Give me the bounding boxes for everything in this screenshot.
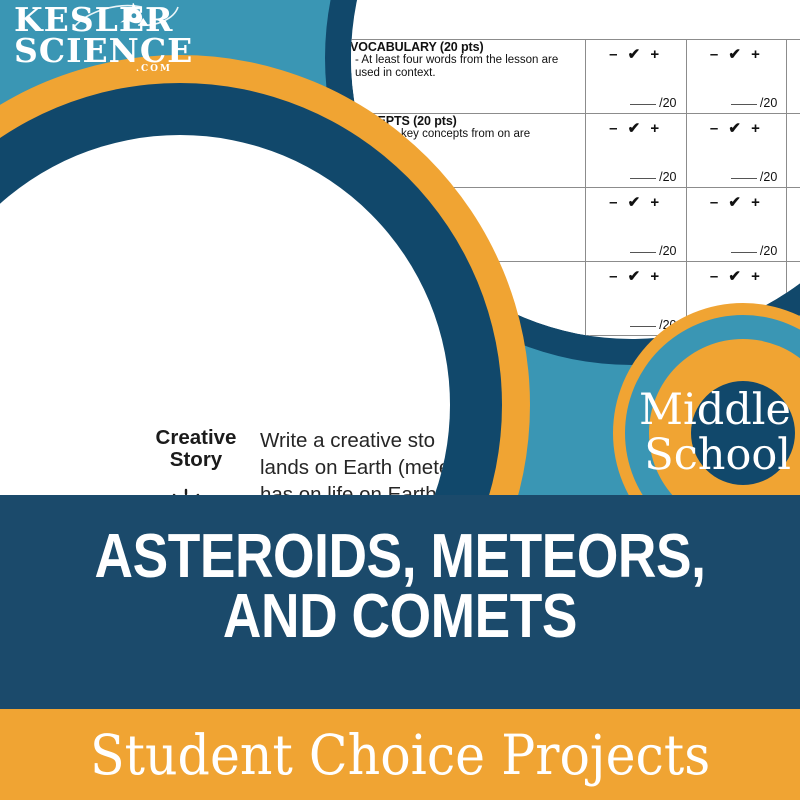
score-blank[interactable] <box>630 326 656 327</box>
rubric-row-title: VOCABULARY (20 pts) <box>351 40 585 54</box>
rubric-points: /20 <box>731 170 777 184</box>
rubric-marks: – ✔ + <box>787 114 800 137</box>
rubric-row-criteria: - At least four words from the lesson ar… <box>351 54 585 80</box>
badge-line1: Middle <box>639 388 791 433</box>
score-blank[interactable] <box>630 178 656 179</box>
rubric-marks: – ✔ + <box>787 262 800 285</box>
score-blank[interactable] <box>731 104 757 105</box>
rubric-score-cell[interactable]: – ✔ + /20 <box>787 188 800 262</box>
rubric-points: /20 <box>731 244 777 258</box>
page-title: ASTEROIDS, METEORS, AND COMETS <box>56 527 744 646</box>
rubric-points-label: /20 <box>659 96 676 110</box>
rubric-score-cell[interactable]: – ✔ + /20 <box>686 40 787 114</box>
rubric-marks: – ✔ + <box>586 262 686 285</box>
badge-core: Middle School <box>691 381 795 485</box>
rubric-score-cell[interactable]: – ✔ + /20 <box>787 114 800 188</box>
rubric-points: /20 <box>630 96 676 110</box>
rubric-score-cell[interactable]: – ✔ + /20 <box>585 188 686 262</box>
rubric-points: /20 <box>630 170 676 184</box>
score-blank[interactable] <box>731 178 757 179</box>
rubric-points-label: /20 <box>760 244 777 258</box>
rubric-points-label: /20 <box>659 170 676 184</box>
score-blank[interactable] <box>731 252 757 253</box>
rubric-marks: – ✔ + <box>787 188 800 211</box>
rubric-points-label: /20 <box>760 96 777 110</box>
brand-logo[interactable]: KESLER SCIENCE .COM <box>14 4 194 84</box>
badge-line2: School <box>644 433 791 478</box>
rubric-points: /20 <box>731 96 777 110</box>
project-label-line1: Creative <box>132 427 260 449</box>
rubric-criteria-cell: VOCABULARY (20 pts) - At least four word… <box>351 40 585 114</box>
page-title-line2: AND COMETS <box>56 587 744 647</box>
score-blank[interactable] <box>630 252 656 253</box>
rubric-marks: – ✔ + <box>687 188 787 211</box>
brand-line2: SCIENCE <box>14 35 194 66</box>
rubric-score-cell[interactable]: – ✔ + /20 <box>585 114 686 188</box>
rocket-icon <box>70 3 180 29</box>
rubric-score-cell[interactable]: – ✔ + /20 <box>686 114 787 188</box>
rubric-marks: – ✔ + <box>787 40 800 63</box>
project-label-line2: Story <box>132 449 260 471</box>
poster-canvas: VOCABULARY (20 pts) - At least four word… <box>0 0 800 800</box>
rubric-score-cell[interactable]: – ✔ + /20 <box>686 188 787 262</box>
rubric-marks: – ✔ + <box>586 188 686 211</box>
rubric-points-label: /20 <box>760 170 777 184</box>
page-subtitle: Student Choice Projects <box>90 723 710 787</box>
page-title-line1: ASTEROIDS, METEORS, <box>56 527 744 587</box>
project-label: Creative Story <box>132 427 260 471</box>
table-row: VOCABULARY (20 pts) - At least four word… <box>351 40 800 114</box>
rubric-score-cell[interactable]: – ✔ + /20 <box>585 40 686 114</box>
rubric-points: /20 <box>630 244 676 258</box>
rubric-marks: – ✔ + <box>687 40 787 63</box>
rubric-marks: – ✔ + <box>586 40 686 63</box>
rubric-marks: – ✔ + <box>687 262 787 285</box>
rubric-marks: – ✔ + <box>687 114 787 137</box>
rubric-marks: – ✔ + <box>586 114 686 137</box>
subtitle-band: Student Choice Projects <box>0 709 800 800</box>
rubric-points-label: /20 <box>659 244 676 258</box>
title-band: ASTEROIDS, METEORS, AND COMETS <box>0 495 800 709</box>
score-blank[interactable] <box>630 104 656 105</box>
rubric-score-cell[interactable]: – ✔ + /20 <box>787 40 800 114</box>
